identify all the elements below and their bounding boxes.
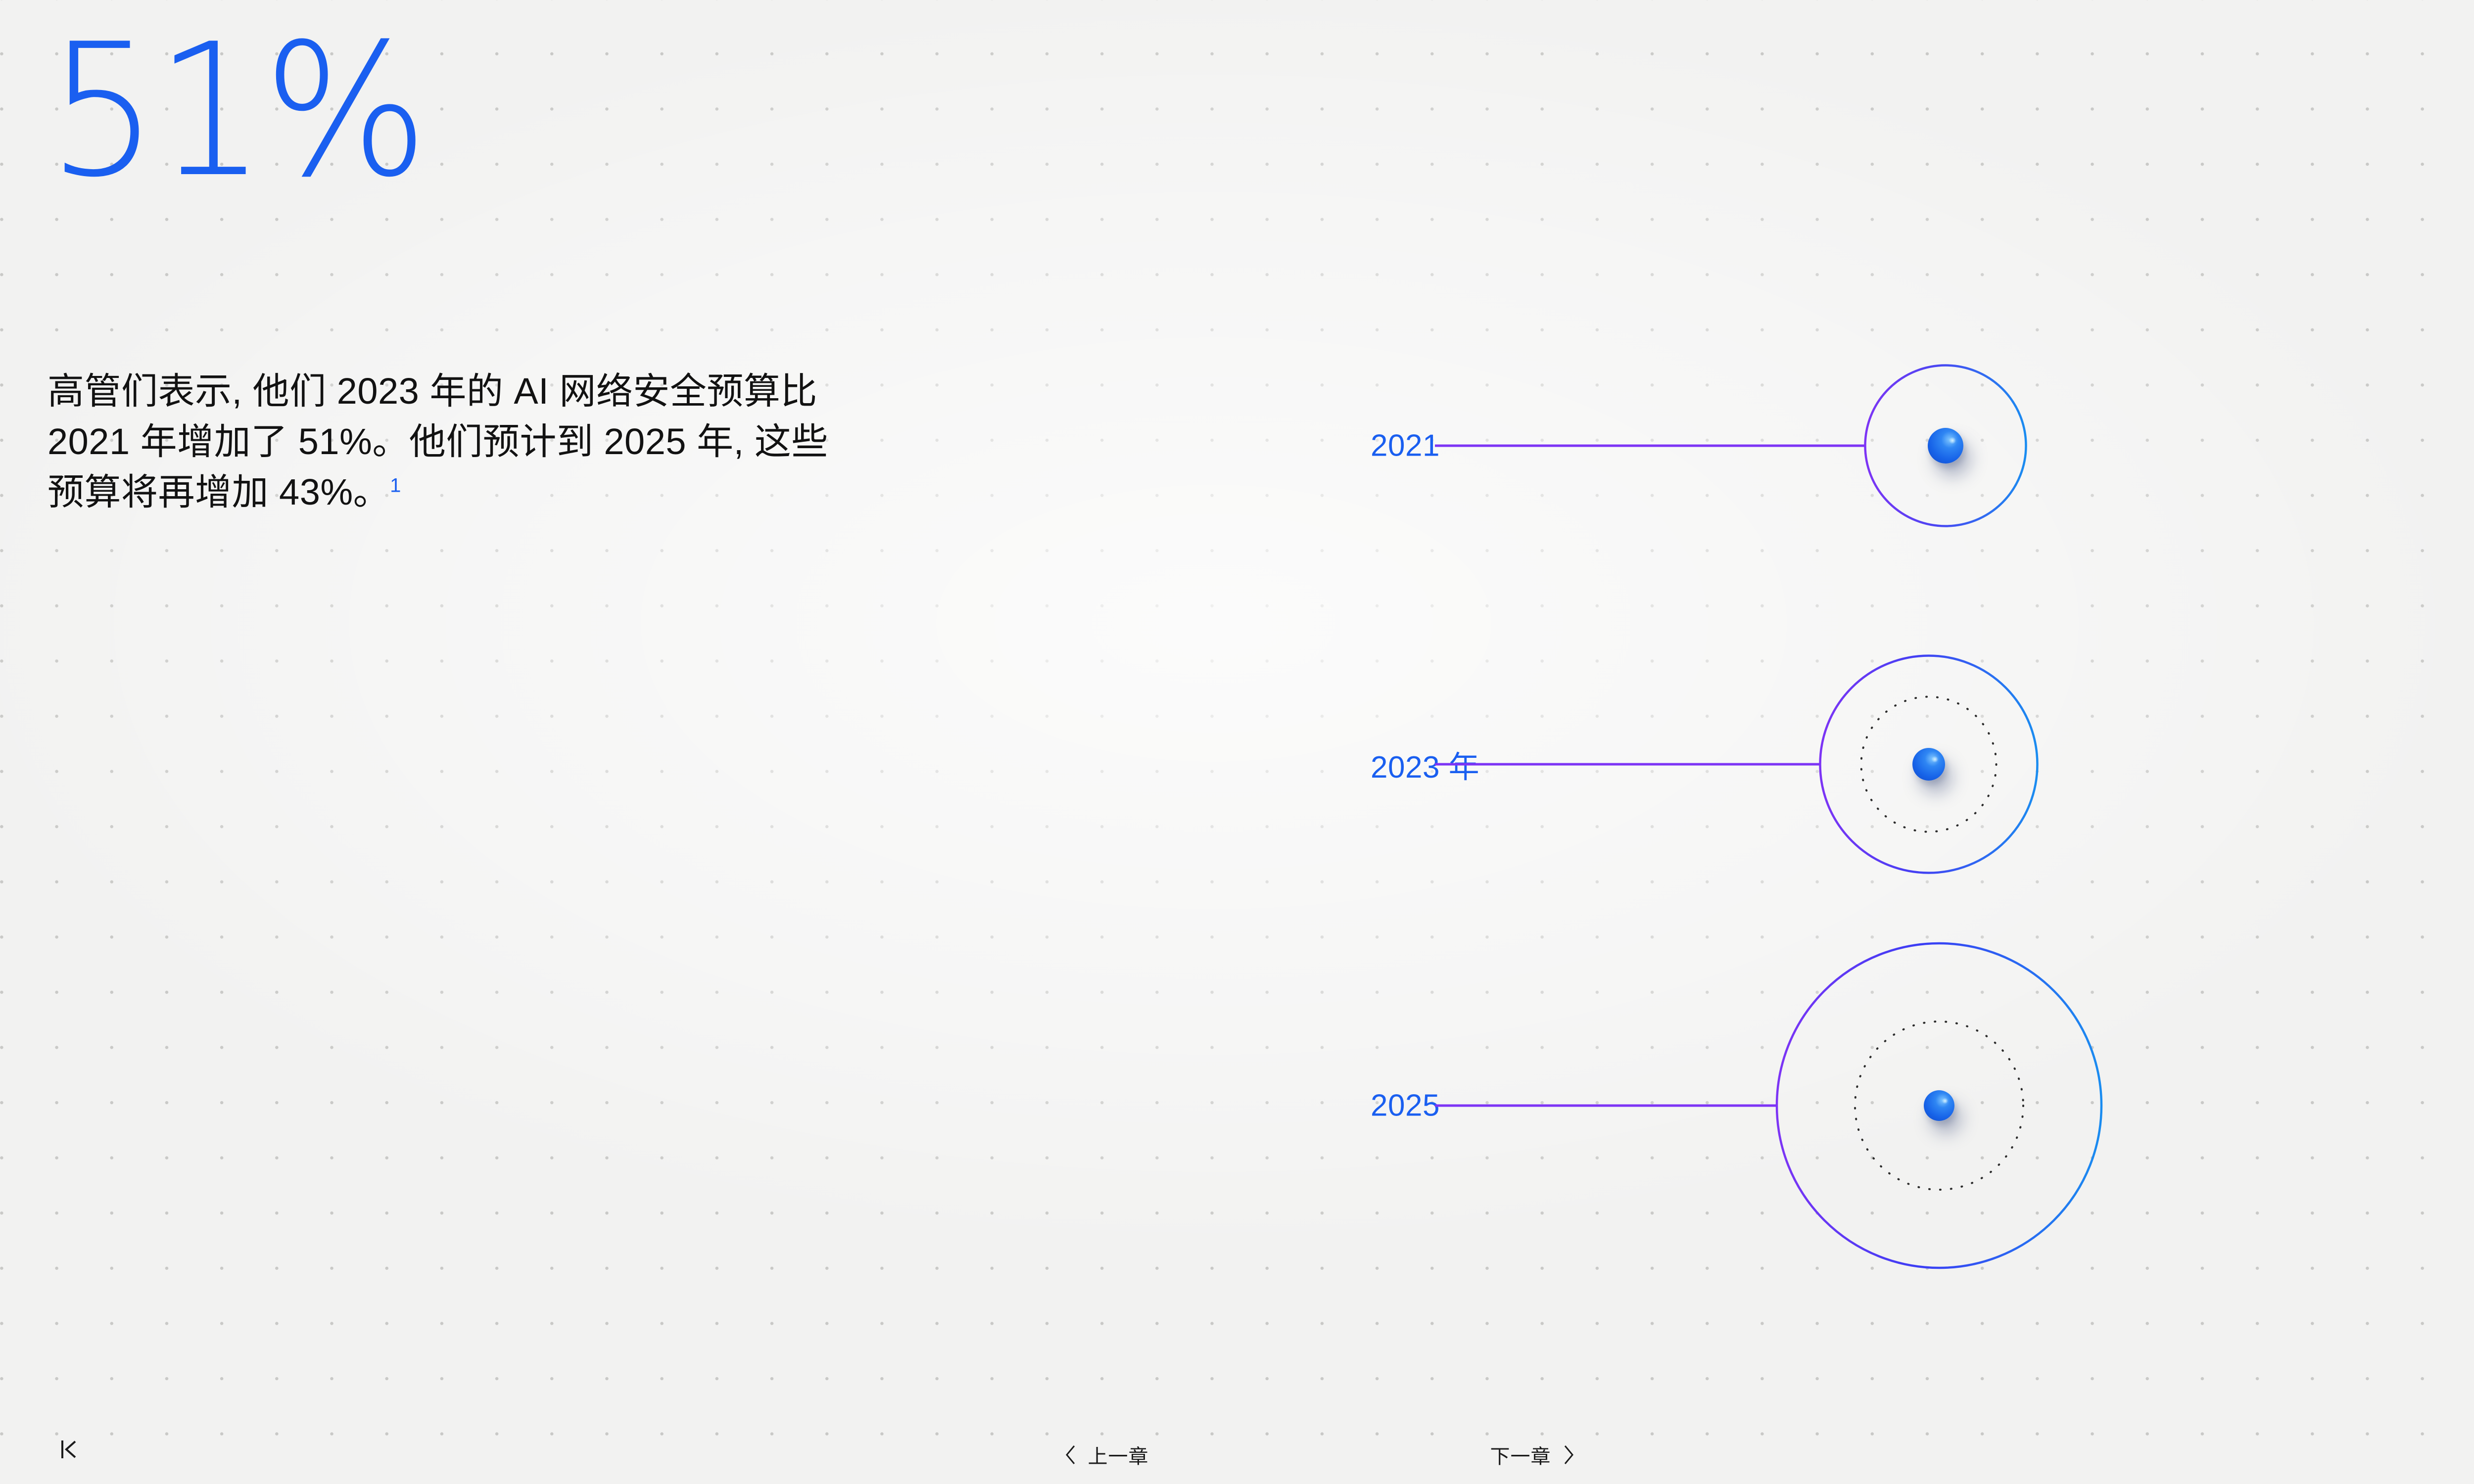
skip-to-first-icon xyxy=(54,1435,84,1464)
connector-line-2021 xyxy=(1435,445,1865,447)
headline-statistic: 51% xyxy=(48,20,847,203)
body-paragraph-text: 高管们表示, 他们 2023 年的 AI 网络安全预算比 2021 年增加了 5… xyxy=(48,371,828,512)
chevron-left-icon xyxy=(1064,1444,1077,1465)
skip-to-first-button[interactable] xyxy=(54,1435,84,1464)
previous-chapter-label: 上一章 xyxy=(1088,1440,1149,1469)
bubble-label-2025: 2025 xyxy=(1371,1088,1440,1123)
bubble-dot-2023 xyxy=(1912,748,1945,781)
connector-line-2025 xyxy=(1435,1105,1777,1107)
footer-navigation-bar: 上一章 下一章 8 xyxy=(0,1410,2474,1484)
connector-line-2023 xyxy=(1435,763,1820,766)
next-chapter-label: 下一章 xyxy=(1490,1440,1551,1469)
body-paragraph: 高管们表示, 他们 2023 年的 AI 网络安全预算比 2021 年增加了 5… xyxy=(48,366,839,517)
bubble-rings-svg xyxy=(1336,307,2227,1276)
left-content-column: 51% 高管们表示, 他们 2023 年的 AI 网络安全预算比 2021 年增… xyxy=(48,20,889,203)
chevron-right-icon xyxy=(1562,1444,1575,1465)
chapter-navigation: 上一章 下一章 xyxy=(1064,1440,1575,1469)
bubble-dot-2025 xyxy=(1924,1090,1954,1121)
bubble-dot-2021 xyxy=(1928,428,1963,464)
bubble-label-2021: 2021 xyxy=(1371,428,1440,464)
next-chapter-button[interactable]: 下一章 xyxy=(1490,1440,1575,1469)
previous-chapter-button[interactable]: 上一章 xyxy=(1064,1440,1149,1469)
bubble-growth-diagram: 2021 2023 年 2025 xyxy=(1336,307,2227,1276)
footnote-marker: 1 xyxy=(390,475,401,497)
